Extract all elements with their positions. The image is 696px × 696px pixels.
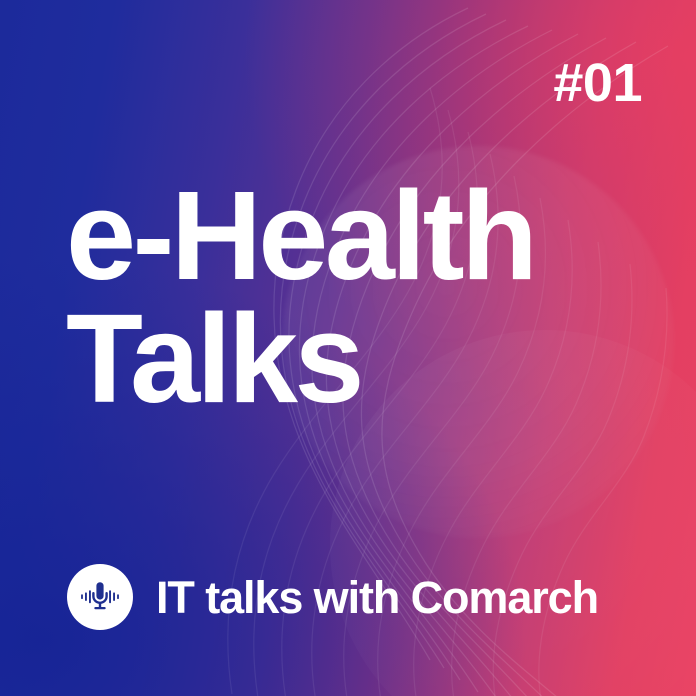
title-line-1: e-Health [66, 174, 534, 297]
episode-number-badge: #01 [553, 56, 642, 110]
page-title: e-Health Talks [66, 174, 534, 421]
microphone-badge [67, 564, 133, 630]
microphone-icon [78, 577, 122, 617]
brand-title: IT talks with Comarch [156, 575, 598, 620]
podcast-cover-art: #01 e-Health Talks IT talks with Comarch [0, 0, 696, 696]
title-line-2: Talks [66, 297, 534, 420]
brand-row: IT talks with Comarch [67, 564, 598, 630]
